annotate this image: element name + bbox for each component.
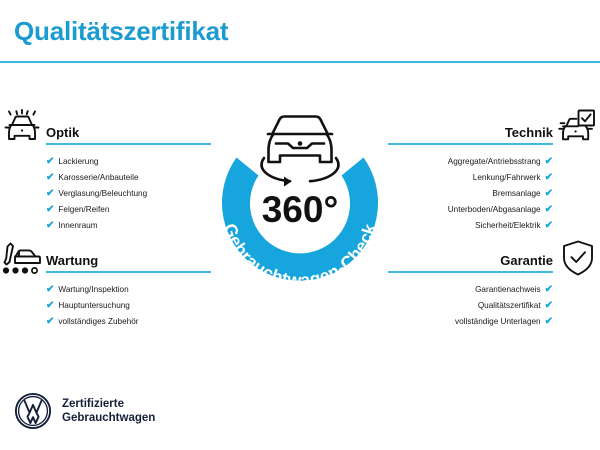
list-item-label: Aggregate/Antriebsstrang [448, 154, 541, 170]
list-item-label: vollständige Unterlagen [455, 314, 541, 330]
list-item-label: Verglasung/Beleuchtung [58, 186, 147, 202]
list-item-label: Sicherheit/Elektrik [475, 218, 541, 234]
check-icon: ✔ [545, 189, 553, 199]
section-optik-list: ✔Lackierung ✔Karosserie/Anbauteile ✔Verg… [46, 145, 211, 234]
list-item: Garantienachweis✔ [388, 282, 553, 298]
section-wartung: Wartung ✔Wartung/Inspektion ✔Hauptunters… [46, 253, 211, 330]
list-item: Qualitätszertifikat✔ [388, 298, 553, 314]
check-icon: ✔ [545, 285, 553, 295]
car-checkbox-icon [556, 108, 596, 148]
quality-certificate-page: Qualitätszertifikat Optik ✔Lackierung ✔K… [0, 0, 600, 450]
list-item-label: Wartung/Inspektion [58, 282, 128, 298]
check-icon: ✔ [46, 189, 54, 199]
car-shine-icon [2, 108, 42, 148]
section-optik: Optik ✔Lackierung ✔Karosserie/Anbauteile… [46, 125, 211, 234]
list-item-label: Hauptuntersuchung [58, 298, 129, 314]
list-item: ✔vollständiges Zubehör [46, 314, 211, 330]
list-item: ✔Karosserie/Anbauteile [46, 170, 211, 186]
check-icon: ✔ [545, 221, 553, 231]
list-item-label: vollständiges Zubehör [58, 314, 138, 330]
list-item: ✔Lackierung [46, 154, 211, 170]
footer-line-2: Gebrauchtwagen [62, 411, 155, 425]
list-item: Bremsanlage✔ [388, 186, 553, 202]
footer-line-1: Zertifizierte [62, 397, 155, 411]
list-item-label: Karosserie/Anbauteile [58, 170, 138, 186]
section-technik-list: Aggregate/Antriebsstrang✔ Lenkung/Fahrwe… [388, 145, 553, 234]
list-item: Lenkung/Fahrwerk✔ [388, 170, 553, 186]
360-check-badge: 360° Gebrauchtwagen-Check [198, 96, 402, 308]
check-icon: ✔ [545, 301, 553, 311]
section-garantie-list: Garantienachweis✔ Qualitätszertifikat✔ v… [388, 273, 553, 330]
section-optik-heading: Optik [46, 125, 211, 143]
footer-brand-text: Zertifizierte Gebrauchtwagen [62, 397, 155, 425]
section-technik: Technik Aggregate/Antriebsstrang✔ Lenkun… [388, 125, 553, 234]
section-garantie-heading: Garantie [388, 253, 553, 271]
list-item-label: Felgen/Reifen [58, 202, 109, 218]
check-icon: ✔ [545, 173, 553, 183]
footer-brand: Zertifizierte Gebrauchtwagen [14, 392, 155, 430]
list-item: ✔Verglasung/Beleuchtung [46, 186, 211, 202]
section-technik-heading: Technik [388, 125, 553, 143]
list-item: ✔Wartung/Inspektion [46, 282, 211, 298]
list-item: ✔Felgen/Reifen [46, 202, 211, 218]
check-icon: ✔ [545, 157, 553, 167]
vw-logo-icon [14, 392, 52, 430]
check-icon: ✔ [46, 157, 54, 167]
check-icon: ✔ [46, 221, 54, 231]
section-wartung-list: ✔Wartung/Inspektion ✔Hauptuntersuchung ✔… [46, 273, 211, 330]
list-item: ✔Hauptuntersuchung [46, 298, 211, 314]
section-wartung-heading: Wartung [46, 253, 211, 271]
car-wrench-icon [2, 240, 42, 280]
list-item-label: Innenraum [58, 218, 97, 234]
check-icon: ✔ [46, 301, 54, 311]
check-icon: ✔ [46, 205, 54, 215]
list-item: ✔Innenraum [46, 218, 211, 234]
check-icon: ✔ [46, 173, 54, 183]
badge-center-label: 360° [262, 189, 339, 230]
list-item: Sicherheit/Elektrik✔ [388, 218, 553, 234]
page-title: Qualitätszertifikat [14, 16, 228, 47]
list-item-label: Lenkung/Fahrwerk [473, 170, 541, 186]
check-icon: ✔ [46, 317, 54, 327]
list-item: Aggregate/Antriebsstrang✔ [388, 154, 553, 170]
list-item-label: Unterboden/Abgasanlage [448, 202, 541, 218]
list-item-label: Qualitätszertifikat [478, 298, 541, 314]
list-item: Unterboden/Abgasanlage✔ [388, 202, 553, 218]
list-item-label: Bremsanlage [492, 186, 540, 202]
car-rotate-icon [262, 117, 339, 187]
list-item-label: Garantienachweis [475, 282, 541, 298]
check-icon: ✔ [545, 317, 553, 327]
header-divider [0, 61, 600, 63]
check-icon: ✔ [545, 205, 553, 215]
list-item-label: Lackierung [58, 154, 98, 170]
section-garantie: Garantie Garantienachweis✔ Qualitätszert… [388, 253, 553, 330]
check-icon: ✔ [46, 285, 54, 295]
list-item: vollständige Unterlagen✔ [388, 314, 553, 330]
shield-check-icon [558, 238, 598, 278]
